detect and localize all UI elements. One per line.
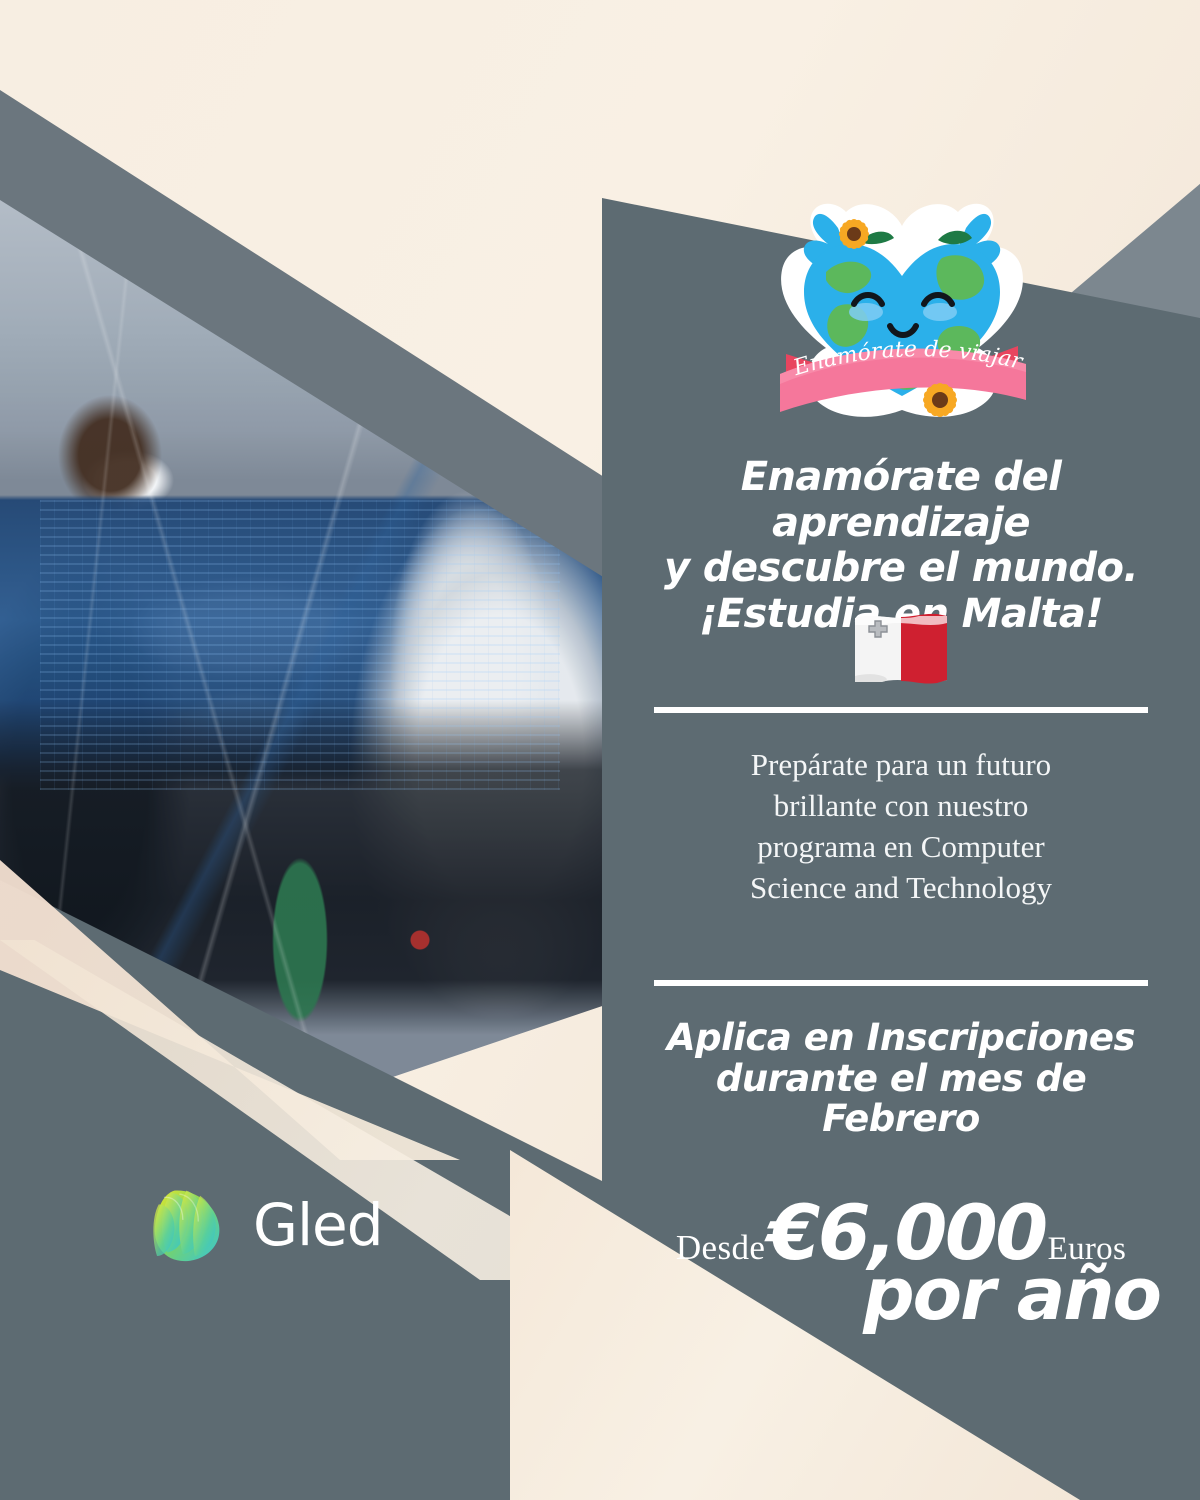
headline-line-1: Enamórate del aprendizaje: [612, 455, 1190, 546]
malta-flag-wrap: [602, 610, 1200, 694]
body-line-4: Science and Technology: [638, 868, 1164, 909]
divider-top: [654, 707, 1148, 713]
poster-canvas: Enamórate de viajar: [0, 0, 1200, 1500]
price-period: por año: [612, 1258, 1190, 1330]
screen-ui-overlay: [40, 500, 560, 790]
malta-flag-icon: [847, 610, 955, 694]
cta-line-2: durante el mes de: [622, 1059, 1180, 1100]
body-line-3: programa en Computer: [638, 827, 1164, 868]
cta-line-3: Febrero: [622, 1099, 1180, 1140]
brand-name: Gled: [253, 1191, 383, 1259]
right-content-column: Enamórate del aprendizaje y descubre el …: [602, 0, 1200, 1500]
body-line-2: brillante con nuestro: [638, 786, 1164, 827]
gled-logo-icon: [145, 1182, 231, 1268]
divider-bottom: [654, 980, 1148, 986]
cta-line-1: Aplica en Inscripciones: [622, 1018, 1180, 1059]
body-copy: Prepárate para un futuro brillante con n…: [638, 745, 1164, 909]
headline-line-2: y descubre el mundo.: [612, 546, 1190, 592]
cta-text: Aplica en Inscripciones durante el mes d…: [622, 1018, 1180, 1140]
body-line-1: Prepárate para un futuro: [638, 745, 1164, 786]
brand-lockup: Gled: [145, 1182, 383, 1268]
